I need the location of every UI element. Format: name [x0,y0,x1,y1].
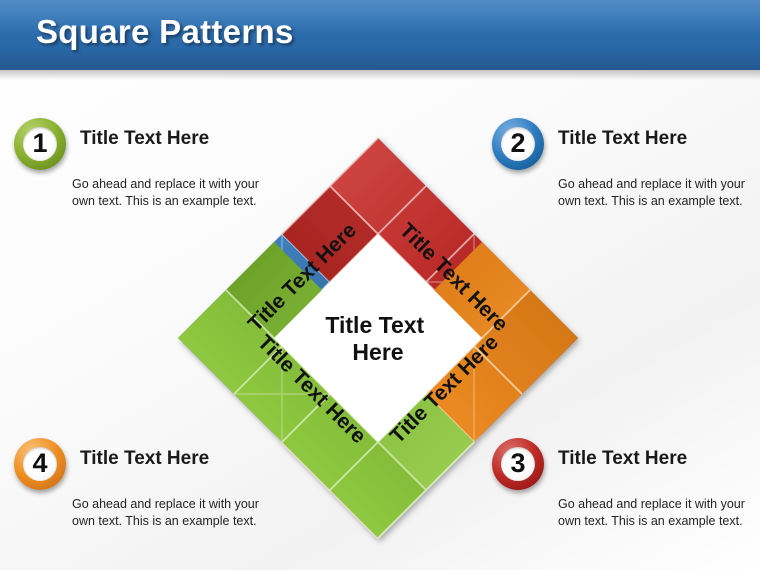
square-pattern-diagram: Title Text Here Title Text Here Title Te… [168,130,588,548]
badge-number-1-inner: 1 [23,127,57,161]
callout-3-body: Go ahead and replace it with your own te… [558,496,758,530]
callout-2-body: Go ahead and replace it with your own te… [558,176,758,210]
header-shadow [0,70,760,80]
badge-number-4-inner: 4 [23,447,57,481]
badge-number-4[interactable]: 4 [14,438,66,490]
badge-number-1-value: 1 [32,130,47,157]
page-title: Square Patterns [36,13,294,51]
badge-number-1[interactable]: 1 [14,118,66,170]
badge-number-4-value: 4 [32,450,47,477]
slide-canvas: Square Patterns 1 Title Text Here Go ahe… [0,0,760,570]
